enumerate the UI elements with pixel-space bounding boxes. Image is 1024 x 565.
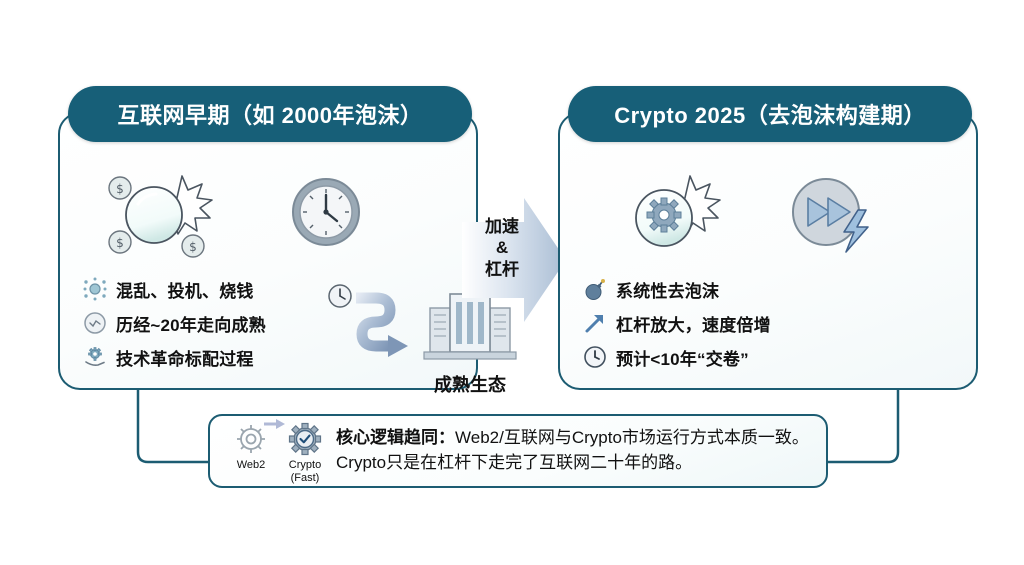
center-arrow-line-1: 加速 [462, 216, 542, 237]
svg-text:$: $ [189, 240, 197, 254]
summary-heading: 核心逻辑趋同： [336, 428, 455, 447]
accelerate-leverage-arrow: 加速 & 杠杆 [462, 196, 566, 324]
trend-up-arrow-icon [582, 310, 608, 336]
outcome-left-caption: 成熟生态 [410, 371, 530, 397]
gear-burst-icon [618, 170, 728, 263]
list-item: 系统性去泡沫 [582, 272, 822, 306]
gear-on-hand-icon [82, 344, 108, 370]
panel-left-icon-row: $ $ $ [60, 166, 476, 258]
bursting-bubble-with-coins-icon: $ $ $ [98, 168, 220, 265]
center-arrow-line-2: & [462, 237, 542, 258]
panel-right-title: Crypto 2025（去泡沫构建期） [568, 86, 972, 142]
center-arrow-label: 加速 & 杠杆 [462, 216, 542, 280]
svg-text:$: $ [116, 182, 124, 196]
list-item-label: 杠杆放大，速度倍增 [616, 311, 771, 336]
crypto-gear-label-line2: (Fast) [291, 473, 320, 485]
summary-box: Web2 [208, 414, 828, 488]
summary-line-1-rest: Web2/互联网与Crypto市场运行方式本质一致。 [455, 428, 809, 447]
crypto-gear-label-line1: Crypto [289, 460, 321, 472]
svg-text:$: $ [116, 236, 124, 250]
clock-circle-icon [82, 310, 108, 336]
summary-text: 核心逻辑趋同：Web2/互联网与Crypto市场运行方式本质一致。 Crypto… [332, 426, 812, 475]
infographic-root: 互联网早期（如 2000年泡沫） $ $ $ [0, 0, 1024, 565]
panel-left-bullets: 混乱、投机、烧钱 历经~20年走向成熟 [82, 272, 322, 374]
center-arrow-line-3: 杠杆 [462, 259, 542, 280]
list-item: 技术革命标配过程 [82, 340, 322, 374]
crypto-gear-block: Crypto (Fast) [280, 421, 330, 484]
panel-internet-early: 互联网早期（如 2000年泡沫） $ $ $ [58, 112, 478, 390]
gear-transition-arrow-icon [264, 417, 286, 431]
summary-line-1: 核心逻辑趋同：Web2/互联网与Crypto市场运行方式本质一致。 [336, 426, 812, 451]
wall-clock-icon [288, 172, 364, 257]
list-item-label: 系统性去泡沫 [616, 277, 719, 302]
winding-slow-arrow [328, 284, 414, 373]
list-item-label: 历经~20年走向成熟 [116, 311, 266, 336]
list-item: 预计<10年“交卷” [582, 340, 822, 374]
web2-gear-label: Web2 [237, 460, 266, 472]
summary-line-2: Crypto只是在杠杆下走完了互联网二十年的路。 [336, 451, 812, 476]
list-item-label: 预计<10年“交卷” [616, 345, 749, 370]
list-item-label: 技术革命标配过程 [116, 345, 254, 370]
panel-right-bullets: 系统性去泡沫 杠杆放大，速度倍增 [582, 272, 822, 374]
fast-forward-lightning-icon [782, 172, 882, 263]
bomb-icon [582, 276, 608, 302]
panel-crypto-2025: Crypto 2025（去泡沫构建期） [558, 112, 978, 390]
list-item-label: 混乱、投机、烧钱 [116, 277, 254, 302]
summary-icon-group: Web2 [224, 417, 332, 485]
list-item: 杠杆放大，速度倍增 [582, 306, 822, 340]
panel-left-title: 互联网早期（如 2000年泡沫） [68, 86, 472, 142]
list-item: 混乱、投机、烧钱 [82, 272, 322, 306]
chaos-scatter-icon [82, 276, 108, 302]
clock-icon [582, 344, 608, 370]
panel-right-icon-row [560, 166, 976, 258]
gear-check-icon [284, 421, 326, 459]
list-item: 历经~20年走向成熟 [82, 306, 322, 340]
